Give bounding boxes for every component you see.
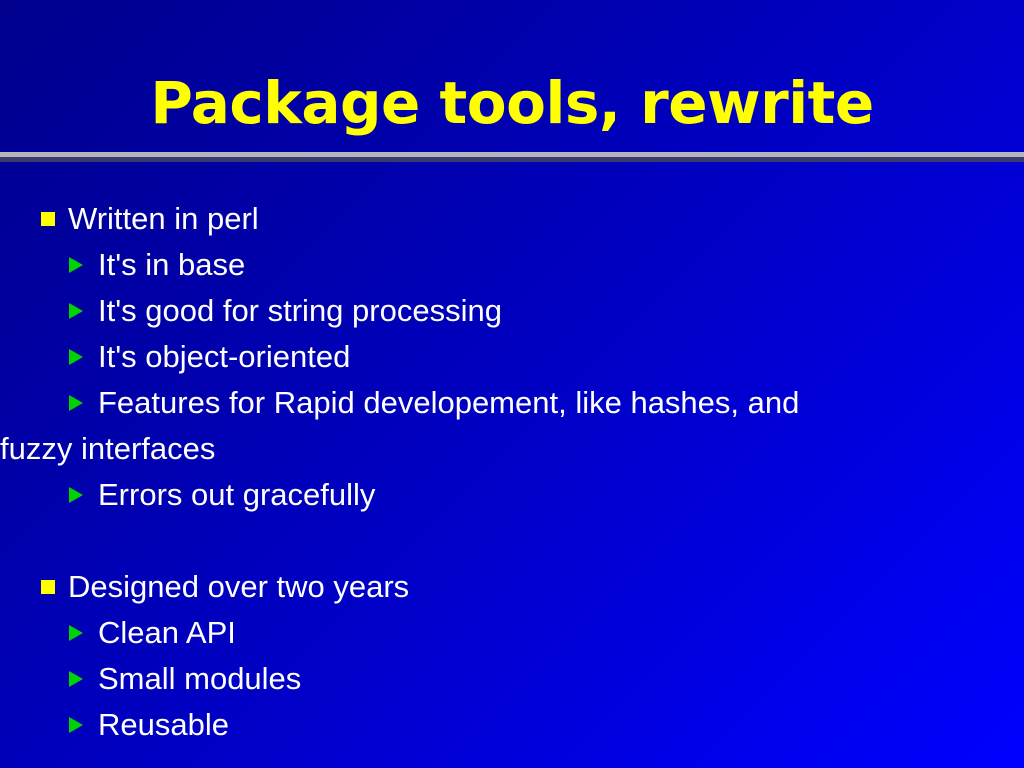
list-item-label: Written in perl [68,201,259,236]
list-item: Features for Rapid developement, like ha… [0,380,1024,426]
triangle-bullet-icon [69,257,83,273]
title-divider [0,152,1024,162]
divider-dark-band [0,157,1024,162]
list-item: Small modules [0,656,1024,702]
triangle-bullet-icon [69,717,83,733]
triangle-bullet-icon [69,303,83,319]
square-bullet-icon [41,212,55,226]
list-item: Written in perl [0,196,1024,242]
list-item-wrapped-line: fuzzy interfaces [0,426,1024,472]
triangle-bullet-icon [69,395,83,411]
list-item: It's good for string processing [0,288,1024,334]
triangle-bullet-icon [69,671,83,687]
slide-title-area: Package tools, rewrite [0,0,1024,152]
list-item-label: Designed over two years [68,569,409,604]
list-item-label: It's object-oriented [98,339,350,374]
triangle-bullet-icon [69,487,83,503]
triangle-bullet-icon [69,349,83,365]
list-item-label: Small modules [98,661,301,696]
presentation-slide: Package tools, rewrite Written in perl I… [0,0,1024,768]
page-title: Package tools, rewrite [0,72,1024,134]
blank-line [0,518,1024,564]
list-item-label: Reusable [98,707,229,742]
list-item: Reusable [0,702,1024,748]
list-item-label: It's good for string processing [98,293,502,328]
list-item-label: Clean API [98,615,236,650]
list-item: Errors out gracefully [0,472,1024,518]
list-item: It's object-oriented [0,334,1024,380]
list-item-label: Features for Rapid developement, like ha… [98,385,799,420]
list-item: It's in base [0,242,1024,288]
list-item: Designed over two years [0,564,1024,610]
list-item-label: Errors out gracefully [98,477,375,512]
list-item: Clean API [0,610,1024,656]
square-bullet-icon [41,580,55,594]
slide-body: Written in perl It's in base It's good f… [0,196,1024,748]
triangle-bullet-icon [69,625,83,641]
list-item-label: It's in base [98,247,245,282]
